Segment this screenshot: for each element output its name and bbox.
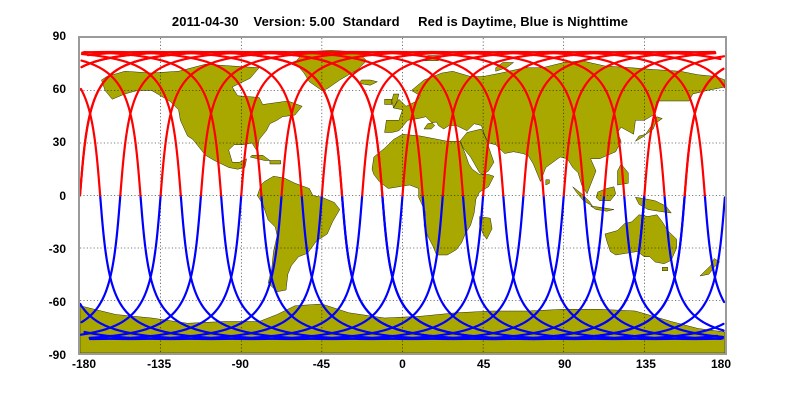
nighttime-track-8-0 (665, 196, 724, 331)
nighttime-track-14-0 (261, 196, 563, 340)
daytime-track-12-1 (82, 54, 181, 195)
nighttime-track-11-0 (140, 196, 442, 340)
x-axis-tick-labels: -180-135-90-4504590135180 (78, 357, 727, 377)
nighttime-track-2-0 (423, 196, 725, 340)
nighttime-track-7-0 (624, 196, 723, 337)
daytime-track-11-0 (483, 52, 720, 196)
daytime-track-10-1 (81, 89, 100, 195)
x-tick-45: 45 (477, 357, 490, 371)
x-tick-neg180: -180 (72, 357, 96, 371)
daytime-track-3-0 (161, 52, 463, 196)
x-tick-135: 135 (636, 357, 656, 371)
nighttime-track-16-0 (342, 196, 644, 340)
y-tick-90: 90 (18, 29, 72, 43)
daytime-track-5-0 (241, 52, 543, 196)
x-tick-0: 0 (399, 357, 406, 371)
y-tick-60: 60 (18, 82, 72, 96)
map-canvas (80, 38, 725, 353)
daytime-track-2-0 (120, 52, 422, 196)
y-tick-neg90: -90 (18, 348, 72, 362)
y-tick-neg60: -60 (18, 295, 72, 309)
x-tick-neg135: -135 (147, 357, 171, 371)
daytime-track-1-0 (80, 52, 382, 196)
map-plot-area (78, 36, 727, 355)
daytime-track-4-0 (201, 52, 503, 196)
daytime-track-16-1 (82, 52, 342, 196)
nighttime-track-9-0 (705, 196, 724, 302)
daytime-track-9-0 (403, 52, 705, 196)
nighttime-track-13-0 (221, 196, 523, 340)
nighttime-track-8-1 (84, 196, 321, 340)
x-tick-neg45: -45 (313, 357, 330, 371)
nighttime-track-10-0 (100, 196, 402, 340)
nighttime-track-0-0 (342, 196, 644, 340)
daytime-track-8-0 (362, 52, 664, 196)
daytime-track-0-1 (82, 52, 342, 196)
y-tick-0: 0 (18, 189, 72, 203)
daytime-track-11-1 (81, 61, 140, 196)
y-tick-30: 30 (18, 135, 72, 149)
y-tick-neg30: -30 (18, 242, 72, 256)
ground-tracks-layer (80, 38, 725, 353)
ground-track-map-figure: 2011-04-30 Version: 5.00 Standard Red is… (0, 0, 800, 400)
x-tick-neg90: -90 (232, 357, 249, 371)
figure-title: 2011-04-30 Version: 5.00 Standard Red is… (0, 14, 800, 29)
nighttime-track-12-0 (181, 196, 483, 340)
nighttime-track-15-0 (302, 196, 604, 340)
daytime-track-6-0 (282, 52, 584, 196)
nighttime-track-17-0 (382, 196, 684, 340)
x-tick-180: 180 (711, 357, 731, 371)
y-axis-tick-labels: 9060300-30-60-90 (18, 36, 72, 355)
daytime-track-15-1 (88, 52, 302, 196)
daytime-track-17-1 (80, 52, 382, 196)
x-tick-90: 90 (558, 357, 571, 371)
nighttime-track-4-0 (503, 196, 717, 340)
nighttime-track-1-0 (382, 196, 684, 340)
nighttime-track-3-0 (463, 196, 723, 340)
daytime-track-7-0 (322, 52, 624, 196)
